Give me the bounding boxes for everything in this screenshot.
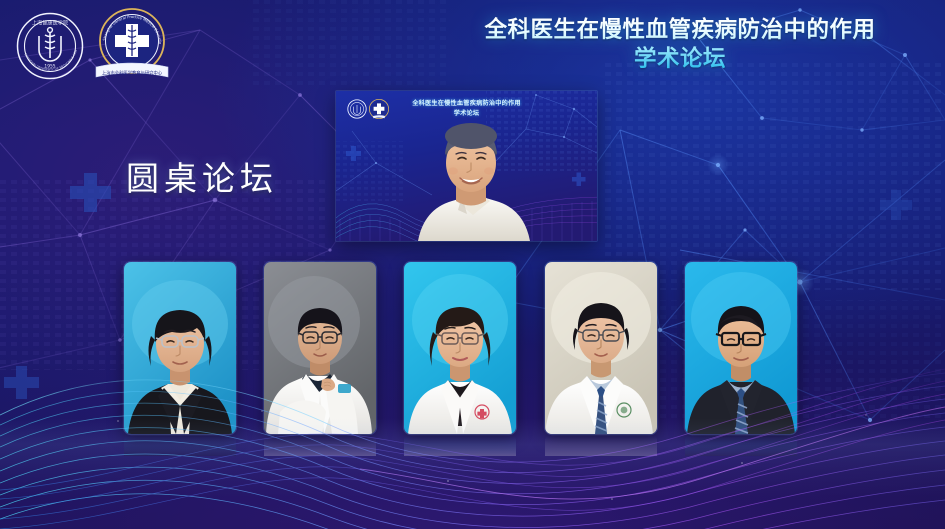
svg-text:1955: 1955 <box>44 64 55 70</box>
medical-cross-icon <box>880 190 912 220</box>
shanghai-health-medical-college-seal-logo: 上海健康医学院 SHANGHAI UNIVERSITY OF MEDICINE … <box>14 10 86 82</box>
presentation-slide: 上海健康医学院 SHANGHAI UNIVERSITY OF MEDICINE … <box>0 0 945 529</box>
main-speaker-video-panel[interactable]: 全科医生在慢性血管疾病防治中的作用 学术论坛 <box>336 91 597 241</box>
svg-text:上海健康医学院: 上海健康医学院 <box>32 19 69 27</box>
section-heading-roundtable: 圆桌论坛 <box>126 152 278 200</box>
bottom-wave-mesh-decoration <box>0 359 945 529</box>
slide-main-title: 全科医生在慢性血管疾病防治中的作用 学术论坛 <box>430 16 930 75</box>
main-title-line2: 学术论坛 <box>430 45 930 74</box>
speaker-portrait <box>336 91 597 241</box>
main-title-line1: 全科医生在慢性血管疾病防治中的作用 <box>484 17 875 43</box>
header-logos: 上海健康医学院 SHANGHAI UNIVERSITY OF MEDICINE … <box>8 4 188 84</box>
medical-cross-icon <box>70 173 111 212</box>
general-practice-education-center-seal-logo: Shanghai General Practice Medical Educat… <box>90 5 174 85</box>
svg-text:上海市全科医学教育与研究中心: 上海市全科医学教育与研究中心 <box>102 69 163 76</box>
